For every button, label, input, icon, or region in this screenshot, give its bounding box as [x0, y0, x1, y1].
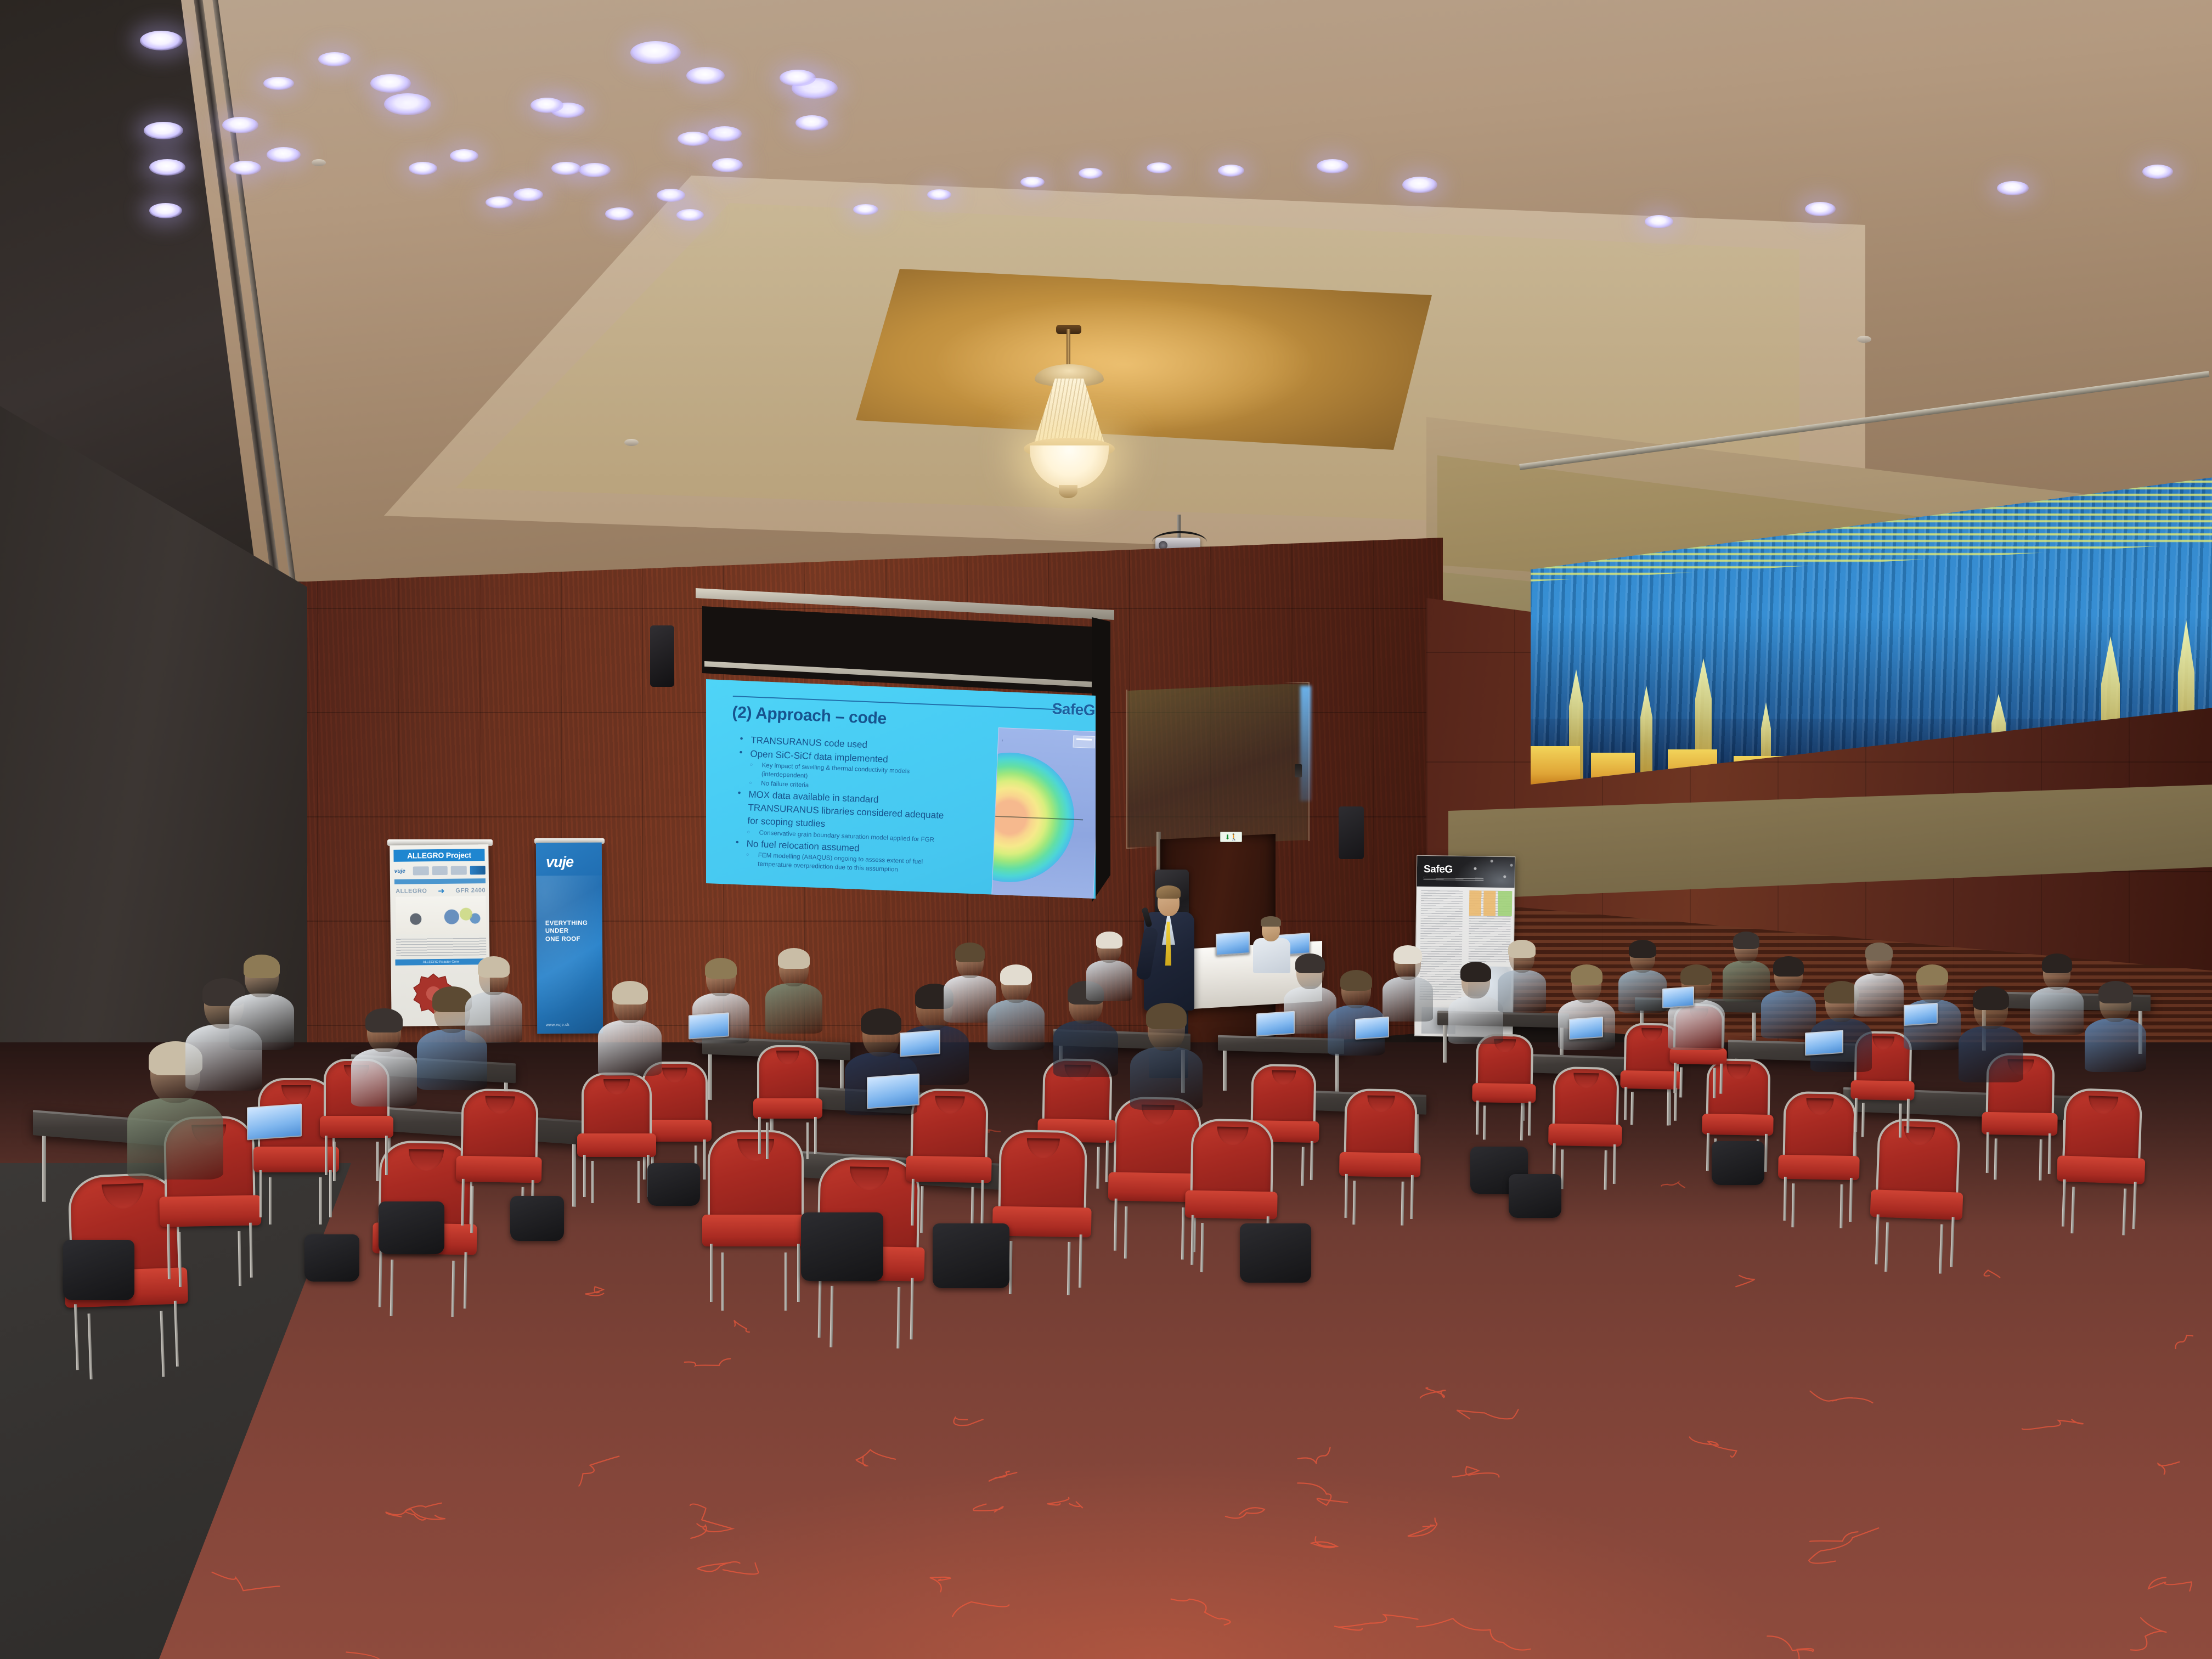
attendee-hair	[2042, 953, 2072, 973]
attendee-torso	[1053, 1020, 1118, 1077]
attendee-hair	[478, 956, 510, 978]
ceiling-downlight	[1218, 165, 1244, 177]
attendee	[1498, 941, 1546, 1010]
ceiling-downlight	[1147, 162, 1172, 173]
banquet-chair[interactable]	[708, 1130, 804, 1276]
slide-figure: r	[991, 727, 1096, 899]
attendee-torso	[351, 1048, 417, 1106]
vuje-logo-small: vuje	[394, 867, 410, 876]
presenter-hair	[1156, 885, 1181, 899]
chair-seat	[906, 1156, 992, 1183]
wall-artwork-frame	[1126, 682, 1310, 849]
projector-light-spill	[1300, 686, 1311, 801]
attendee-hair	[1916, 964, 1948, 985]
attendee-hair	[1680, 964, 1712, 985]
ceiling-tray-glow	[933, 296, 1317, 433]
attendee-hair	[1973, 986, 2009, 1010]
allegro-partner-logos: vuje	[394, 864, 486, 877]
chair-leg	[167, 1224, 171, 1279]
allegro-arrow-left-label: ALLEGRO	[396, 888, 427, 895]
exit-running-man-icon: ⬇🚶	[1225, 834, 1238, 840]
attendee-hair	[1096, 932, 1122, 949]
safeg-poster-logo: SafeG	[1424, 864, 1454, 876]
chair-leg	[385, 1136, 388, 1175]
attendee	[2030, 955, 2084, 1031]
ceiling-downlight	[853, 204, 878, 215]
ceiling-downlight	[1805, 202, 1836, 216]
chair-seat	[1850, 1080, 1915, 1100]
attendee	[1761, 957, 1816, 1035]
backpack	[1509, 1174, 1561, 1218]
laptop[interactable]	[1904, 1003, 1938, 1026]
chair-leg	[1679, 1067, 1683, 1097]
chair-seat	[1185, 1190, 1278, 1220]
attendee	[1448, 963, 1503, 1041]
banquet-chair[interactable]	[582, 1073, 652, 1178]
arrow-right-icon: ➜	[438, 886, 445, 896]
chair-seat	[753, 1098, 822, 1119]
safeg-poster-logo-text: SafeG	[1424, 864, 1453, 876]
chair-leg	[1624, 1087, 1627, 1120]
banquet-chair[interactable]	[1874, 1118, 1961, 1244]
ceiling-downlight	[795, 115, 828, 131]
ceiling-downlight	[140, 31, 183, 50]
laptop[interactable]	[247, 1104, 302, 1141]
backpack	[933, 1223, 1009, 1288]
banquet-chair[interactable]	[910, 1088, 989, 1206]
backpack	[647, 1163, 700, 1206]
chair-leg	[325, 1136, 328, 1175]
chair-leg	[329, 1170, 332, 1217]
chair-leg	[1630, 1092, 1634, 1125]
chair-seat	[1548, 1124, 1622, 1147]
laptop-screen	[1356, 1018, 1388, 1039]
session-chair-hair	[1261, 916, 1281, 927]
ceiling-downlight	[267, 147, 301, 162]
vuje-banner-graphic	[536, 875, 603, 1034]
ceiling-downlight	[384, 93, 431, 115]
table-leg	[1443, 1025, 1447, 1063]
chair-seat	[1472, 1083, 1536, 1103]
ceiling-downlight	[222, 117, 258, 133]
banquet-chair[interactable]	[1551, 1066, 1619, 1166]
banquet-chair[interactable]	[997, 1130, 1087, 1264]
attendee-hair	[1773, 956, 1804, 977]
backpack	[1712, 1141, 1764, 1185]
ceiling-downlight	[686, 67, 725, 84]
backpack	[304, 1234, 359, 1282]
attendee-hair	[365, 1008, 402, 1032]
ceiling-downlight	[1997, 181, 2029, 195]
safeg-logo-sup	[1095, 703, 1096, 712]
attendee-torso	[1086, 960, 1132, 1001]
laptop-screen	[248, 1105, 301, 1139]
ceiling-downlight	[2142, 165, 2173, 179]
laptop-screen	[1217, 933, 1249, 955]
safeg-poster-logo-sup	[1453, 864, 1454, 870]
ceiling-downlight	[605, 207, 634, 221]
chandelier-rod	[1066, 329, 1070, 369]
vuje-wordmark: vuje	[546, 854, 573, 871]
vuje-tagline-line3: ONE ROOF	[545, 935, 588, 944]
banquet-chair[interactable]	[2061, 1088, 2142, 1208]
chair-leg	[583, 1155, 586, 1197]
chair-seat	[2057, 1155, 2145, 1184]
banquet-chair[interactable]	[1343, 1088, 1417, 1199]
attendee-hair	[1340, 970, 1372, 991]
table-leg	[42, 1136, 46, 1201]
attendee	[1130, 1004, 1203, 1106]
attendee-torso	[1448, 996, 1503, 1044]
chair-leg	[703, 1139, 706, 1180]
attendee-hair	[1508, 940, 1535, 958]
chair-seat	[1982, 1112, 2058, 1136]
attendee-torso	[465, 992, 522, 1043]
allegro-body-text-block	[396, 936, 486, 956]
attendee-torso	[229, 994, 294, 1049]
laptop[interactable]	[1569, 1017, 1603, 1040]
ceiling-downlight	[263, 77, 294, 90]
ceiling-downlight	[1020, 177, 1045, 188]
ceiling-downlight	[1317, 159, 1348, 173]
ceiling-downlight	[149, 203, 182, 218]
attendee	[598, 982, 662, 1072]
banquet-chair[interactable]	[1475, 1034, 1534, 1120]
attendee	[1959, 988, 2023, 1079]
attendee-hair	[1733, 932, 1759, 949]
ceiling-downlight	[531, 98, 563, 113]
curtain-building-shape	[1531, 746, 1580, 785]
backpack	[510, 1196, 564, 1241]
chandelier-finial	[1059, 485, 1077, 498]
laptop[interactable]	[867, 1074, 919, 1109]
laptop[interactable]	[900, 1030, 940, 1057]
chair-leg	[806, 1122, 809, 1159]
ceiling-downlight	[409, 162, 437, 175]
attendee-torso	[127, 1098, 223, 1180]
attendee	[351, 1009, 417, 1103]
attendee-hair	[1865, 943, 1893, 961]
chair-leg	[1673, 1063, 1677, 1093]
safeg-logo-text: SafeG	[1052, 700, 1096, 719]
attendee	[988, 966, 1045, 1047]
backpack	[801, 1212, 883, 1281]
chair-seat	[1870, 1189, 1963, 1220]
laptop-screen	[1663, 988, 1693, 1007]
chair-leg	[1713, 1068, 1716, 1098]
laptop[interactable]	[1256, 1011, 1295, 1037]
banquet-chair[interactable]	[460, 1088, 539, 1206]
attendee	[465, 957, 522, 1040]
laptop[interactable]	[1216, 932, 1250, 956]
laptop-screen	[1570, 1018, 1602, 1039]
attendee-hair	[1393, 945, 1422, 964]
backpack	[379, 1201, 444, 1254]
safeg-logo: SafeG	[1052, 700, 1096, 719]
chair-leg	[591, 1161, 594, 1203]
attendee	[2085, 982, 2146, 1069]
attendee-hair	[778, 948, 810, 969]
ceiling-downlight	[450, 149, 478, 162]
chair-seat	[1702, 1114, 1774, 1136]
chair-leg	[785, 1252, 787, 1311]
laptop[interactable]	[1355, 1017, 1389, 1040]
laptop-screen	[1257, 1012, 1294, 1036]
slide-title: (2) Approach – code	[732, 703, 887, 729]
ceiling-downlight	[486, 196, 513, 208]
chair-seat	[1670, 1047, 1727, 1065]
attendee-hair	[1146, 1003, 1187, 1029]
chair-seat	[1339, 1152, 1421, 1178]
wall-speaker	[1339, 806, 1364, 859]
attendee-torso	[988, 1000, 1045, 1050]
attendee-torso	[1498, 970, 1546, 1013]
chair-leg	[1899, 1104, 1902, 1138]
safeg-poster-diagram-boxes	[1469, 890, 1513, 916]
attendee	[1618, 941, 1667, 1010]
ceiling-downlight	[579, 163, 611, 177]
attendee	[1328, 971, 1385, 1052]
chair-leg	[178, 1232, 182, 1287]
chair-leg	[766, 1122, 769, 1159]
attendee-hair	[705, 958, 737, 979]
partner-logo-icon	[451, 866, 467, 874]
chair-leg	[721, 1252, 724, 1311]
laptop[interactable]	[689, 1012, 729, 1039]
ceiling-downlight	[1645, 215, 1673, 228]
chair-leg	[250, 1223, 253, 1278]
ceiling-downlight	[370, 74, 411, 93]
vuje-tagline-line1: EVERYTHING	[545, 919, 588, 928]
attendee	[229, 956, 294, 1046]
attendee	[765, 949, 822, 1030]
laptop-screen	[901, 1031, 939, 1056]
laptop-screen	[690, 1014, 728, 1039]
vuje-rollup-banner: vuje EVERYTHING UNDER ONE ROOF www.vuje.…	[536, 843, 603, 1034]
attendee-hair	[1460, 962, 1491, 982]
light-switch[interactable]	[1295, 764, 1302, 777]
vuje-tagline: EVERYTHING UNDER ONE ROOF	[545, 919, 588, 944]
attendee-hair	[1295, 953, 1325, 973]
attendee-hair	[1824, 981, 1859, 1003]
chair-leg	[814, 1117, 817, 1154]
attendee-torso	[1130, 1047, 1203, 1110]
allegro-arrow-right-label: GFR 2400	[455, 887, 486, 894]
attendee-hair	[1000, 964, 1032, 985]
laptop[interactable]	[1662, 986, 1694, 1008]
ceiling-downlight	[551, 162, 581, 175]
conference-room-photo: crystal chandelier ceiling projector ser…	[0, 0, 2212, 1659]
attendee-torso	[1383, 977, 1433, 1022]
chair-leg	[758, 1117, 761, 1154]
attendee	[1383, 946, 1433, 1019]
ceiling-downlight	[678, 132, 709, 146]
backpack	[63, 1240, 134, 1300]
wall-speaker	[650, 625, 674, 687]
attendee-hair	[1629, 940, 1656, 958]
vuje-tagline-line2: UNDER	[545, 927, 588, 935]
attendee-hair	[861, 1008, 901, 1035]
partner-logo-icon	[470, 866, 486, 874]
chair-seat	[159, 1195, 261, 1227]
laptop-screen	[1806, 1031, 1842, 1055]
allegro-transition-row: ALLEGRO ➜ GFR 2400	[396, 886, 486, 896]
ceiling-downlight	[229, 161, 261, 175]
attendee-hair	[2098, 981, 2133, 1003]
ceiling-downlight	[513, 188, 543, 201]
attendee-hair	[955, 943, 985, 962]
banquet-chair[interactable]	[757, 1045, 819, 1137]
ceiling-downlight	[318, 52, 351, 66]
figure-axis-label: r	[1002, 739, 1003, 743]
attendee-hair	[1571, 964, 1602, 985]
attendee-torso	[1959, 1026, 2023, 1082]
partner-logo-icon	[413, 866, 429, 875]
ceiling-downlight	[676, 209, 704, 221]
laptop[interactable]	[1805, 1030, 1843, 1056]
chair-leg	[238, 1231, 241, 1286]
attendee	[1854, 944, 1904, 1014]
attendee-torso	[765, 983, 822, 1034]
presentation-slide: SafeG (2) Approach – code TRANSURANUS co…	[706, 679, 1096, 899]
laptop-screen	[1905, 1004, 1937, 1025]
ceiling-downlight	[927, 189, 951, 200]
attendee-hair	[612, 981, 648, 1005]
allegro-subtitle-bar	[394, 878, 486, 884]
ceiling-downlight	[1402, 177, 1437, 193]
attendee-hair	[244, 955, 280, 978]
smoke-detector-icon	[312, 159, 326, 166]
figure-legend	[1073, 736, 1095, 749]
chair-leg	[376, 1142, 379, 1181]
ceiling-downlight	[630, 41, 681, 64]
table-leg	[708, 1054, 712, 1100]
exit-sign: ⬇🚶	[1220, 832, 1242, 842]
chair-leg	[319, 1177, 322, 1224]
chair-seat	[702, 1215, 810, 1246]
ceiling-downlight	[149, 159, 185, 176]
smoke-detector-icon	[1857, 336, 1871, 343]
ceiling-downlight	[144, 122, 183, 139]
chair-leg	[259, 1170, 262, 1217]
chair-leg	[333, 1142, 336, 1181]
attendee-torso	[2085, 1018, 2146, 1072]
laptop-screen	[868, 1075, 918, 1108]
chair-leg	[637, 1161, 640, 1203]
chair-seat	[320, 1116, 393, 1138]
attendee-torso	[1854, 973, 1904, 1017]
chair-leg	[797, 1244, 800, 1302]
chair-leg	[1520, 1107, 1523, 1141]
attendee-torso	[2030, 987, 2084, 1035]
ceiling-downlight	[657, 189, 685, 202]
chair-leg	[1667, 1093, 1670, 1126]
smoke-detector-icon	[624, 439, 639, 446]
attendee-torso	[1761, 990, 1816, 1039]
allegro-banner-title: ALLEGRO Project	[393, 849, 484, 862]
banquet-chair[interactable]	[1782, 1091, 1856, 1202]
ceiling-downlight	[1079, 168, 1103, 179]
ceiling-downlight	[712, 158, 743, 172]
chair-leg	[710, 1244, 713, 1302]
chair-seat	[1778, 1155, 1860, 1181]
ceiling-downlight	[708, 126, 742, 142]
slide-content: SafeG (2) Approach – code TRANSURANUS co…	[706, 679, 1096, 899]
chair-leg	[269, 1177, 272, 1224]
partner-logo-icon	[432, 866, 448, 875]
ceiling-downlight	[780, 70, 816, 86]
table-leg	[1223, 1051, 1227, 1091]
backpack	[1240, 1223, 1311, 1283]
allegro-reactor-diagram	[396, 896, 486, 934]
table-leg	[572, 1144, 576, 1207]
vuje-url: www.vuje.sk	[546, 1023, 569, 1027]
attendee-torso	[1618, 970, 1667, 1013]
table-leg	[1335, 1054, 1339, 1094]
chair-seat	[577, 1133, 656, 1156]
chair-leg	[1719, 1063, 1723, 1093]
attendee	[1086, 933, 1132, 998]
attendee-torso	[598, 1020, 662, 1076]
chair-seat	[456, 1156, 543, 1183]
slide-bullet-list: TRANSURANUS code usedOpen SiC-SiCf data …	[729, 733, 954, 877]
